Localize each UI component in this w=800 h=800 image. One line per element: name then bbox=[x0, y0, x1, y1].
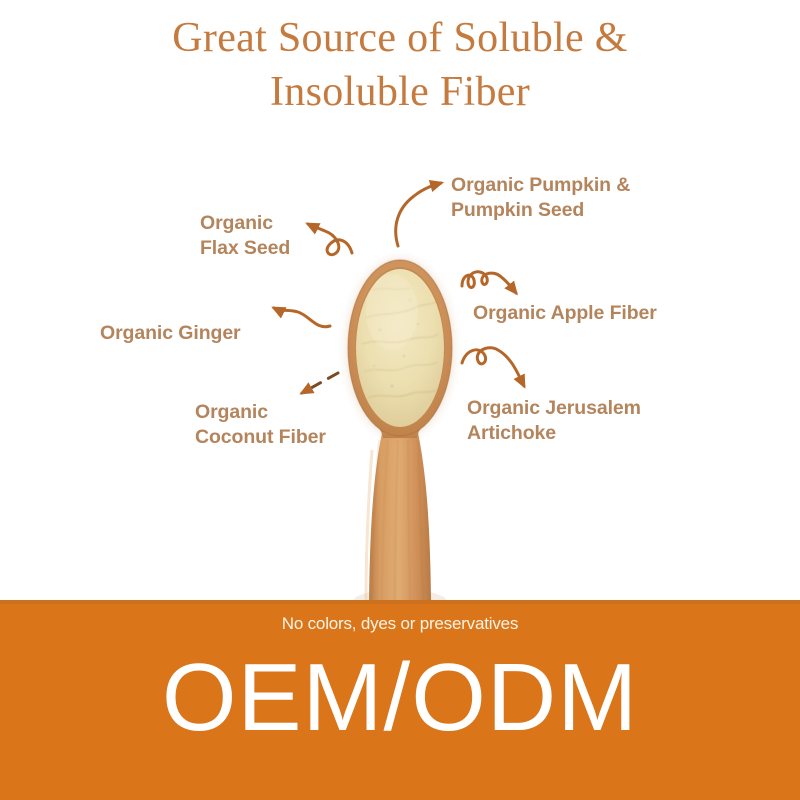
callout-label-ginger: Organic Ginger bbox=[100, 321, 241, 346]
footer-headline: OEM/ODM bbox=[0, 648, 800, 749]
spoon-bowl bbox=[348, 260, 452, 436]
infographic-poster: Great Source of Soluble & Insoluble Fibe… bbox=[0, 0, 800, 800]
arrow-ginger bbox=[274, 308, 330, 327]
page-title-line-2: Insoluble Fiber bbox=[0, 66, 800, 120]
callout-label-flax-seed: Organic Flax Seed bbox=[200, 211, 290, 262]
footer-banner: No colors, dyes or preservatives OEM/ODM bbox=[0, 600, 800, 800]
arrow-jerusalem-artichoke bbox=[462, 348, 524, 386]
page-title: Great Source of Soluble & Insoluble Fibe… bbox=[0, 12, 800, 120]
spoon-handle bbox=[366, 428, 431, 600]
arrow-coconut-fiber bbox=[302, 373, 338, 393]
footer-subtitle: No colors, dyes or preservatives bbox=[0, 614, 800, 634]
fiber-powder bbox=[356, 269, 444, 427]
callout-label-jerusalem-artichoke: Organic Jerusalem Artichoke bbox=[467, 396, 641, 447]
callout-label-apple-fiber: Organic Apple Fiber bbox=[473, 301, 657, 326]
callout-label-pumpkin: Organic Pumpkin & Pumpkin Seed bbox=[451, 173, 630, 224]
arrow-apple-fiber bbox=[462, 272, 516, 293]
page-title-line-1: Great Source of Soluble & bbox=[0, 12, 800, 66]
arrow-flax-seed bbox=[308, 224, 352, 255]
footer-divider bbox=[0, 600, 800, 604]
arrow-pumpkin bbox=[396, 183, 441, 246]
callout-label-coconut-fiber: Organic Coconut Fiber bbox=[195, 400, 326, 451]
